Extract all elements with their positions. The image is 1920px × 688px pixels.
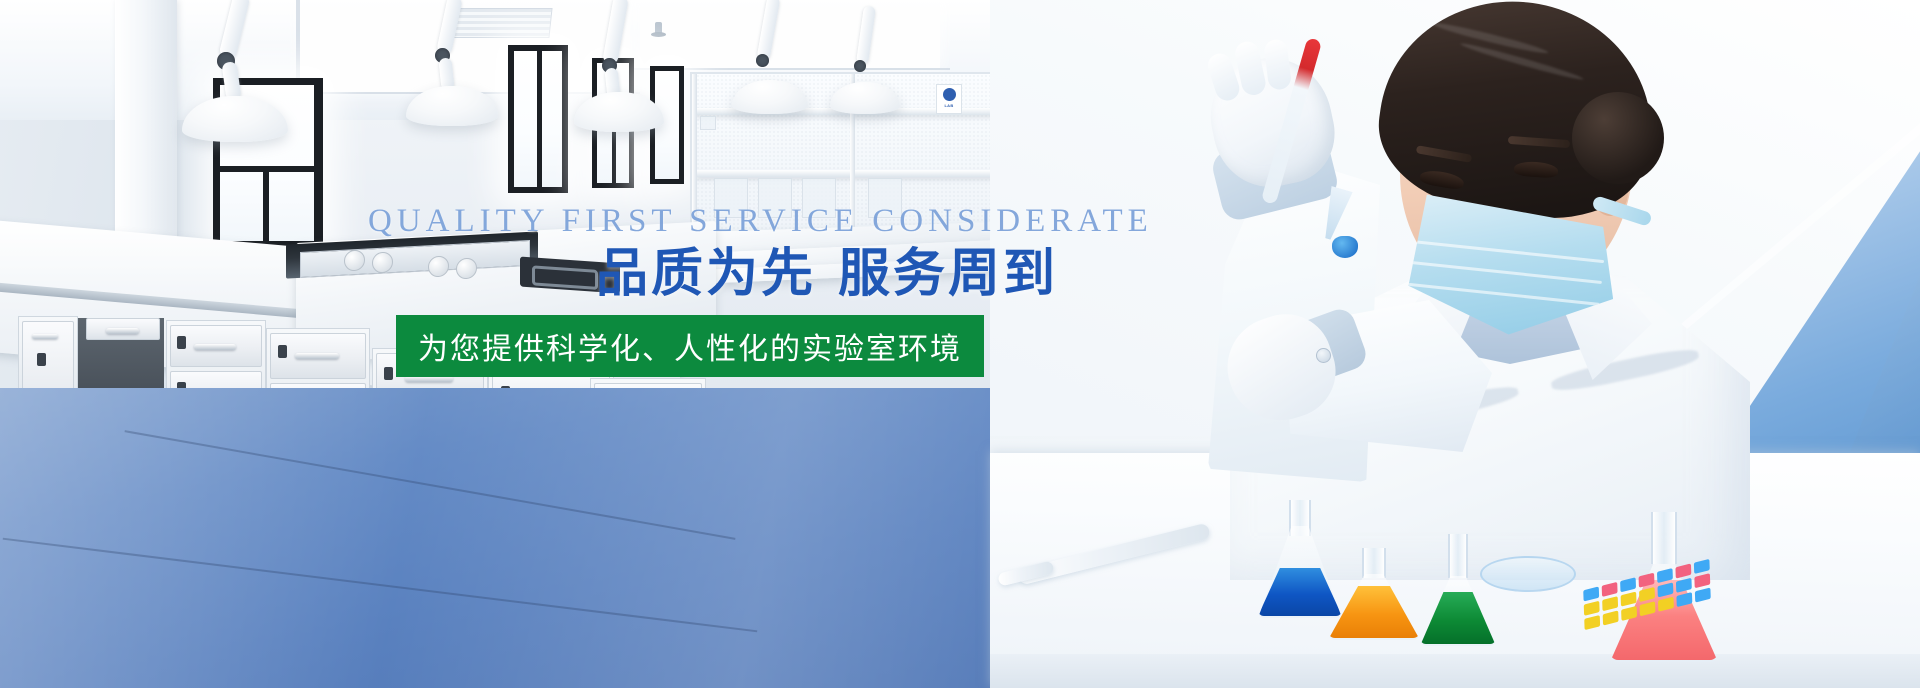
subtitle-text: 为您提供科学化、人性化的实验室环境 bbox=[418, 324, 962, 368]
promo-banner: LAB bbox=[0, 0, 1920, 688]
english-tagline: QUALITY FIRST SERVICE CONSIDERATE bbox=[368, 205, 1153, 238]
page-title: 品质为先服务周到 bbox=[596, 248, 1058, 300]
headline-right: 服务周到 bbox=[838, 244, 1058, 304]
banner-copy: QUALITY FIRST SERVICE CONSIDERATE 品质为先服务… bbox=[0, 0, 1920, 688]
headline-left: 品质为先 bbox=[596, 244, 816, 304]
subtitle-bar: 为您提供科学化、人性化的实验室环境 bbox=[396, 315, 984, 377]
